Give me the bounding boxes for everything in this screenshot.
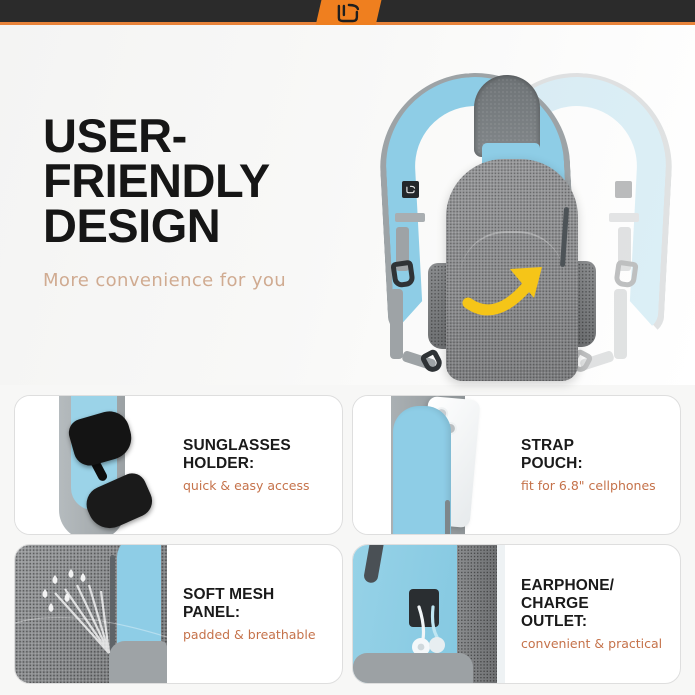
feature-title-earphone-outlet: EARPHONE/ CHARGE OUTLET: [521, 577, 668, 631]
strap-adjuster [395, 213, 425, 222]
pouch-zipper [445, 500, 450, 534]
feature-text-earphone-outlet: EARPHONE/ CHARGE OUTLET: convenient & pr… [505, 545, 680, 683]
ghost-strap-tail [614, 289, 627, 359]
curved-swap-arrow-icon [462, 251, 572, 321]
brand-monogram-icon [336, 3, 360, 28]
strap-logo-tag-icon [402, 181, 419, 198]
feature-text-sunglasses: SUNGLASSES HOLDER: quick & easy access [167, 396, 342, 534]
feature-title-line-1: STRAP [521, 437, 668, 455]
feature-photo-mesh-panel [15, 545, 167, 683]
feature-title-line-1: SUNGLASSES [183, 437, 330, 455]
feature-photo-sunglasses [15, 396, 167, 534]
feature-title-line-2: POUCH: [521, 455, 668, 473]
bag-bottom-band [353, 653, 473, 683]
feature-card-strap-pouch[interactable]: STRAP POUCH: fit for 6.8" cellphones [352, 395, 681, 535]
hero-product-image [366, 55, 691, 407]
hero-section: USER- FRIENDLY DESIGN More convenience f… [0, 25, 695, 385]
feature-title-line-2: PANEL: [183, 604, 330, 622]
feature-title-strap-pouch: STRAP POUCH: [521, 437, 668, 473]
page-title-line-2: FRIENDLY [43, 158, 373, 203]
ghost-strap-adjuster [609, 213, 639, 222]
strap-clip-top [390, 260, 415, 289]
feature-text-mesh-panel: SOFT MESH PANEL: padded & breathable [167, 545, 342, 683]
airflow-graphic-icon [15, 545, 167, 683]
page-title: USER- FRIENDLY DESIGN [43, 113, 373, 248]
feature-title-sunglasses: SUNGLASSES HOLDER: [183, 437, 330, 473]
feature-title-line-1: SOFT MESH [183, 586, 330, 604]
feature-subtitle-earphone-outlet: convenient & practical [521, 636, 668, 651]
feature-title-line-2: HOLDER: [183, 455, 330, 473]
feature-subtitle-mesh-panel: padded & breathable [183, 627, 330, 642]
hero-text-block: USER- FRIENDLY DESIGN More convenience f… [43, 113, 373, 291]
feature-title-line-1: EARPHONE/ [521, 577, 668, 595]
feature-photo-strap-pouch [353, 396, 505, 534]
page-title-line-3: DESIGN [43, 203, 373, 248]
feature-card-grid: SUNGLASSES HOLDER: quick & easy access S… [0, 390, 695, 695]
strap-tail [390, 289, 403, 359]
feature-card-sunglasses-holder[interactable]: SUNGLASSES HOLDER: quick & easy access [14, 395, 343, 535]
page-subtitle: More convenience for you [43, 270, 373, 291]
feature-photo-earphone-outlet [353, 545, 505, 683]
feature-title-mesh-panel: SOFT MESH PANEL: [183, 586, 330, 622]
feature-card-earphone-outlet[interactable]: EARPHONE/ CHARGE OUTLET: convenient & pr… [352, 544, 681, 684]
feature-title-line-2: CHARGE [521, 595, 668, 613]
feature-subtitle-strap-pouch: fit for 6.8" cellphones [521, 478, 668, 493]
feature-subtitle-sunglasses: quick & easy access [183, 478, 330, 493]
feature-text-strap-pouch: STRAP POUCH: fit for 6.8" cellphones [505, 396, 680, 534]
feature-title-line-3: OUTLET: [521, 613, 668, 631]
ghost-strap-logo-tag [615, 181, 632, 198]
page-title-line-1: USER- [43, 113, 373, 158]
strap-pouch-blue [393, 406, 451, 534]
feature-card-soft-mesh-panel[interactable]: SOFT MESH PANEL: padded & breathable [14, 544, 343, 684]
